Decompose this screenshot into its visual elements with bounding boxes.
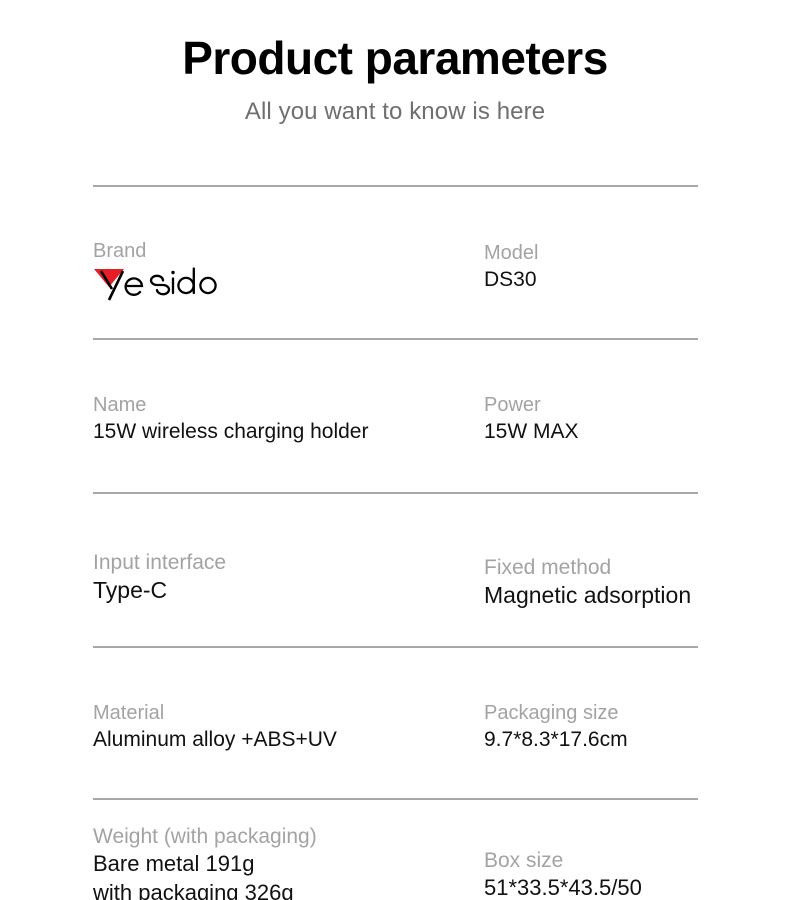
spec-value-line-2: with packaging 326g [93, 879, 484, 900]
spec-cell-fixed-method: Fixed method Magnetic adsorption [484, 550, 698, 611]
spec-value: 15W wireless charging holder [93, 418, 484, 445]
page-subtitle: All you want to know is here [0, 98, 790, 126]
spec-value: 15W MAX [484, 418, 698, 445]
spec-label: Brand [93, 239, 484, 264]
spec-cell-name: Name 15W wireless charging holder [93, 393, 484, 445]
spec-value: 51*33.5*43.5/50 [484, 874, 698, 900]
yesido-logo [93, 267, 263, 301]
spec-label: Input interface [93, 550, 484, 576]
spec-label: Box size [484, 848, 698, 874]
spec-label: Material [93, 701, 484, 726]
spec-cell-weight: Weight (with packaging) Bare metal 191g … [93, 824, 484, 900]
spec-label: Fixed method [484, 555, 698, 581]
spec-label: Model [484, 241, 698, 266]
spec-value-line-1: Bare metal 191g [93, 850, 484, 879]
spec-cell-model: Model DS30 [484, 239, 698, 293]
page-header: Product parameters All you want to know … [0, 0, 790, 126]
spec-cell-packaging-size: Packaging size 9.7*8.3*17.6cm [484, 701, 698, 753]
spec-cell-power: Power 15W MAX [484, 393, 698, 445]
spec-value: DS30 [484, 266, 698, 293]
spec-cell-brand: Brand [93, 239, 484, 301]
table-row: Material Aluminum alloy +ABS+UV Packagin… [93, 648, 698, 798]
spec-table: Brand [93, 185, 698, 900]
table-row: Input interface Type-C Fixed method Magn… [93, 494, 698, 646]
spec-label: Packaging size [484, 701, 698, 726]
table-row: Weight (with packaging) Bare metal 191g … [93, 800, 698, 900]
spec-value: 9.7*8.3*17.6cm [484, 726, 698, 753]
table-row: Name 15W wireless charging holder Power … [93, 340, 698, 492]
page-title: Product parameters [0, 34, 790, 84]
spec-value: Magnetic adsorption [484, 581, 698, 611]
spec-label: Name [93, 393, 484, 418]
spec-value: Type-C [93, 576, 484, 606]
product-parameters-page: Product parameters All you want to know … [0, 0, 790, 900]
table-row: Brand [93, 187, 698, 338]
spec-cell-input-interface: Input interface Type-C [93, 550, 484, 606]
spec-label: Power [484, 393, 698, 418]
spec-cell-box-size: Box size 51*33.5*43.5/50 [484, 824, 698, 900]
spec-value: Aluminum alloy +ABS+UV [93, 726, 484, 753]
spec-label: Weight (with packaging) [93, 824, 484, 850]
spec-cell-material: Material Aluminum alloy +ABS+UV [93, 701, 484, 753]
